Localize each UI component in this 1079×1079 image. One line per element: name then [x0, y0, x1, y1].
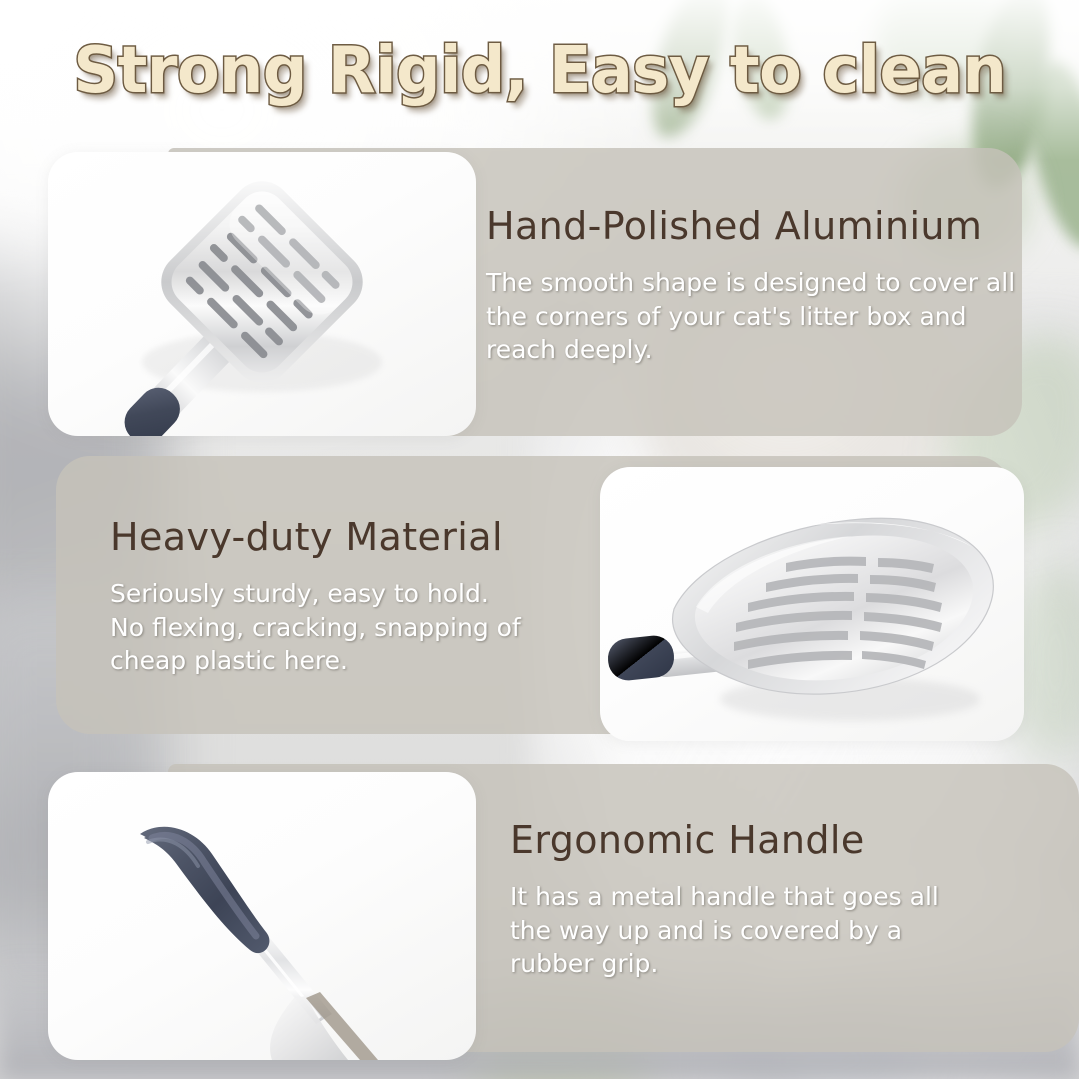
scoop-front-illustration	[48, 152, 476, 436]
feature-text-2: Heavy-duty Material Seriously sturdy, ea…	[110, 515, 521, 678]
feature-body-1: The smooth shape is designed to cover al…	[486, 266, 1015, 367]
feature-body-3: It has a metal handle that goes all the …	[510, 880, 939, 981]
scoop-angled-illustration	[600, 467, 1024, 741]
handle-closeup-illustration	[48, 772, 476, 1060]
feature-title-3: Ergonomic Handle	[510, 818, 939, 862]
feature-text-3: Ergonomic Handle It has a metal handle t…	[510, 818, 939, 981]
feature-text-1: Hand-Polished Aluminium The smooth shape…	[486, 204, 1015, 367]
feature-photo-2	[600, 467, 1024, 741]
poster-title: Strong Rigid, Easy to clean	[73, 38, 1006, 105]
rubber-grip-handle-icon	[48, 772, 476, 1060]
feature-title-1: Hand-Polished Aluminium	[486, 204, 1015, 248]
feature-photo-1	[48, 152, 476, 436]
poster-title-container: Strong Rigid, Easy to clean	[0, 38, 1079, 105]
litter-scoop-angled-icon	[600, 467, 1024, 741]
feature-title-2: Heavy-duty Material	[110, 515, 521, 559]
litter-scoop-front-icon	[48, 152, 476, 436]
product-infographic-poster: Strong Rigid, Easy to clean	[0, 0, 1079, 1079]
feature-body-2: Seriously sturdy, easy to hold. No flexi…	[110, 577, 521, 678]
feature-photo-3	[48, 772, 476, 1060]
